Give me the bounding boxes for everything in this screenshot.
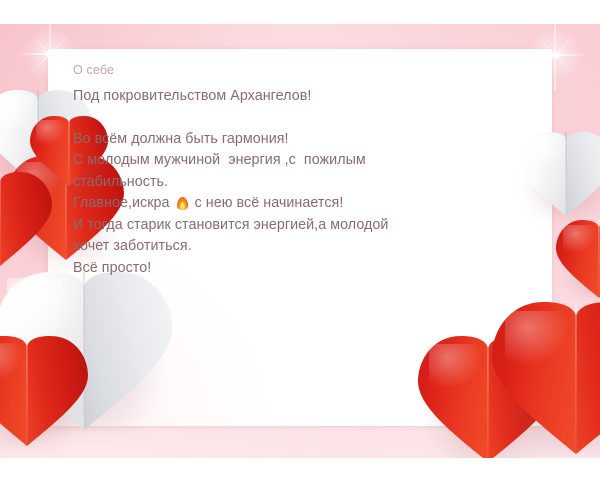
about-line-1: Во всём должна быть гармония! <box>73 129 488 151</box>
about-line-flame: Главное,искра с нею всё начинается! <box>73 193 488 215</box>
about-section-label: О себе <box>73 63 488 77</box>
sparkle-ray-vertical <box>554 24 556 90</box>
profile-about-text-block: О себе Под покровительством Архангелов! … <box>73 63 488 279</box>
about-line-3: стабильность. <box>73 172 488 194</box>
heart-red-lower-left <box>0 336 88 446</box>
heart-white-upper-right <box>520 132 600 216</box>
greeting-card-frame: О себе Под покровительством Архангелов! … <box>0 24 600 458</box>
about-headline: Под покровительством Архангелов! <box>73 86 488 108</box>
about-line-4: И тогда старик становится энергией,а мол… <box>73 215 488 237</box>
about-line-5: хочет заботиться. <box>73 236 488 258</box>
flame-line-suffix: с нею всё начинается! <box>191 195 344 211</box>
heart-red-left-edge <box>0 172 52 266</box>
about-line-6: Всё просто! <box>73 258 488 280</box>
about-line-2: С молодым мужчиной энергия ,с пожилым <box>73 150 488 172</box>
flame-line-prefix: Главное,искра <box>73 195 174 211</box>
text-spacer <box>73 108 488 129</box>
fire-emoji <box>176 195 189 210</box>
heart-red-lower-right-large <box>492 302 600 454</box>
heart-red-mid-right <box>556 220 600 298</box>
